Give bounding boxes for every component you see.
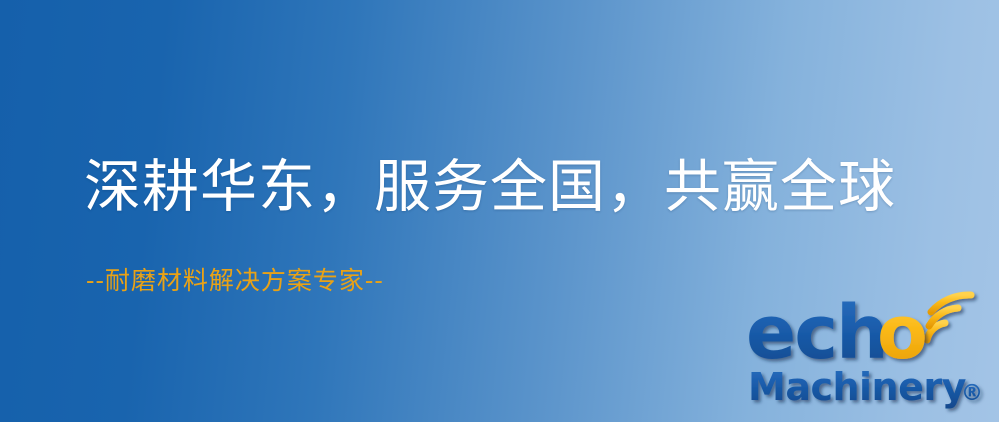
signal-waves-icon xyxy=(927,295,971,340)
logo-brand-accent: o xyxy=(877,290,928,376)
logo-trademark-symbol: ® xyxy=(961,381,983,406)
echo-machinery-logo[interactable]: ech o Machinery ® xyxy=(746,296,994,416)
logo-brand-primary: ech xyxy=(746,290,887,376)
logo-tagline: Machinery xyxy=(748,365,967,409)
banner-subtitle: --耐磨材料解决方案专家-- xyxy=(86,264,384,298)
logo-artwork: ech o Machinery ® xyxy=(746,296,994,416)
promo-banner: 深耕华东，服务全国，共赢全球 --耐磨材料解决方案专家-- xyxy=(0,0,999,422)
banner-headline: 深耕华东，服务全国，共赢全球 xyxy=(84,152,896,222)
